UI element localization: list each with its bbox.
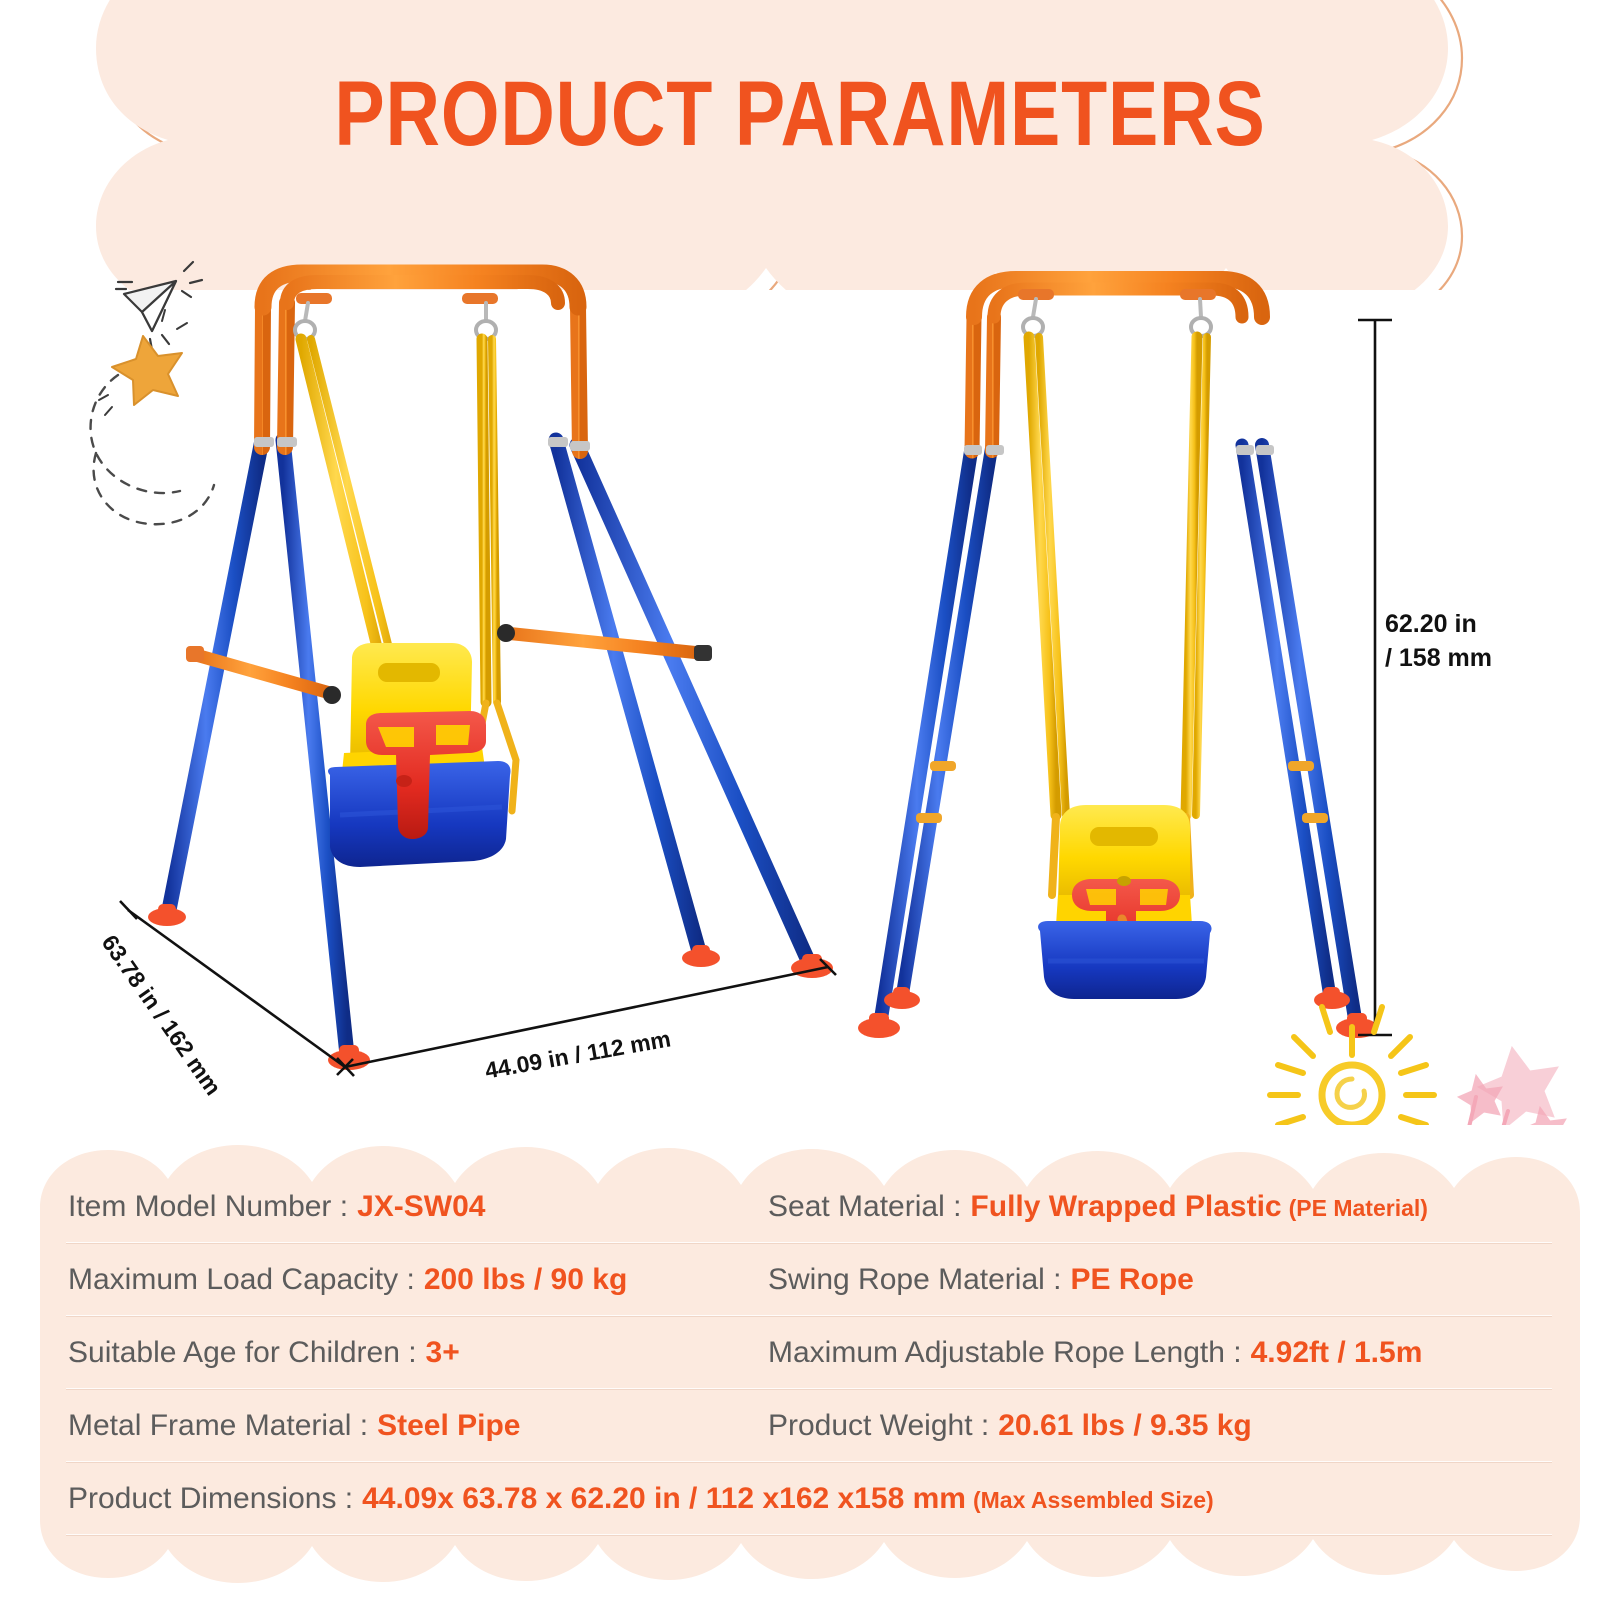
spec-table: Item Model Number : JX-SW04 Seat Materia… [0, 1128, 1600, 1600]
swing-seat-right [1038, 805, 1211, 999]
spec-label: Metal Frame Material : [68, 1409, 368, 1443]
swing-hook-front-right [1180, 289, 1216, 336]
flower-icon [1452, 1047, 1566, 1125]
table-row: Maximum Load Capacity : 200 lbs / 90 kg … [38, 1243, 1562, 1316]
dimension-line-height [1358, 320, 1392, 1035]
spec-max-adjustable-rope-length: Maximum Adjustable Rope Length : 4.92ft … [768, 1336, 1422, 1370]
dimension-label-height: 62.20 in / 158 mm [1385, 608, 1492, 676]
table-row: Suitable Age for Children : 3+ Maximum A… [38, 1316, 1562, 1389]
infographic-page: PRODUCT PARAMETERS [0, 0, 1600, 1600]
spec-item-model-number: Item Model Number : JX-SW04 [68, 1190, 485, 1224]
spec-metal-frame-material: Metal Frame Material : Steel Pipe [68, 1409, 520, 1443]
spec-product-dimensions: Product Dimensions : 44.09x 63.78 x 62.2… [68, 1482, 1214, 1516]
page-title: PRODUCT PARAMETERS [144, 62, 1456, 167]
spec-value: Steel Pipe [377, 1409, 520, 1443]
spec-label: Product Weight : [768, 1409, 989, 1443]
spec-product-weight: Product Weight : 20.61 lbs / 9.35 kg [768, 1409, 1252, 1443]
spec-note: (PE Material) [1289, 1195, 1428, 1222]
spec-note: (Max Assembled Size) [973, 1487, 1214, 1514]
swing-hook-right [462, 293, 498, 339]
sun-icon [1270, 1007, 1434, 1125]
dimension-lines-left [120, 901, 836, 1076]
table-row: Item Model Number : JX-SW04 Seat Materia… [38, 1170, 1562, 1243]
spec-value: 3+ [426, 1336, 460, 1370]
spec-rows: Item Model Number : JX-SW04 Seat Materia… [0, 1128, 1600, 1600]
swing-hook-left [295, 293, 332, 339]
spec-label: Maximum Load Capacity : [68, 1263, 415, 1297]
spec-label: Seat Material : [768, 1190, 961, 1224]
spec-maximum-load-capacity: Maximum Load Capacity : 200 lbs / 90 kg [68, 1263, 627, 1297]
product-illustration [0, 255, 1600, 1125]
spec-label: Maximum Adjustable Rope Length : [768, 1336, 1242, 1370]
spec-value: Fully Wrapped Plastic [970, 1190, 1281, 1224]
spec-value: 200 lbs / 90 kg [424, 1263, 627, 1297]
spec-value: 44.09x 63.78 x 62.20 in / 112 x162 x158 … [362, 1482, 966, 1516]
swing-front-view [858, 279, 1392, 1038]
dimension-label-height-line2: / 158 mm [1385, 642, 1492, 676]
row-divider [66, 1534, 1552, 1535]
spec-value: JX-SW04 [357, 1190, 485, 1224]
spec-label: Swing Rope Material : [768, 1263, 1061, 1297]
header-banner: PRODUCT PARAMETERS [0, 0, 1600, 290]
spec-swing-rope-material: Swing Rope Material : PE Rope [768, 1263, 1194, 1297]
spec-value: 4.92ft / 1.5m [1251, 1336, 1423, 1370]
spec-label: Item Model Number : [68, 1190, 348, 1224]
star-icon [99, 310, 187, 415]
spec-value: 20.61 lbs / 9.35 kg [998, 1409, 1252, 1443]
spec-seat-material: Seat Material : Fully Wrapped Plastic (P… [768, 1190, 1428, 1224]
table-row: Product Dimensions : 44.09x 63.78 x 62.2… [38, 1462, 1562, 1535]
table-row: Metal Frame Material : Steel Pipe Produc… [38, 1389, 1562, 1462]
spec-value: PE Rope [1070, 1263, 1193, 1297]
spec-label: Product Dimensions : [68, 1482, 353, 1516]
spec-label: Suitable Age for Children : [68, 1336, 417, 1370]
swing-hook-front-left [1018, 289, 1054, 336]
spec-suitable-age: Suitable Age for Children : 3+ [68, 1336, 460, 1370]
dimension-label-height-line1: 62.20 in [1385, 608, 1492, 642]
swing-perspective-view [120, 273, 836, 1076]
paper-plane-icon [91, 262, 214, 524]
